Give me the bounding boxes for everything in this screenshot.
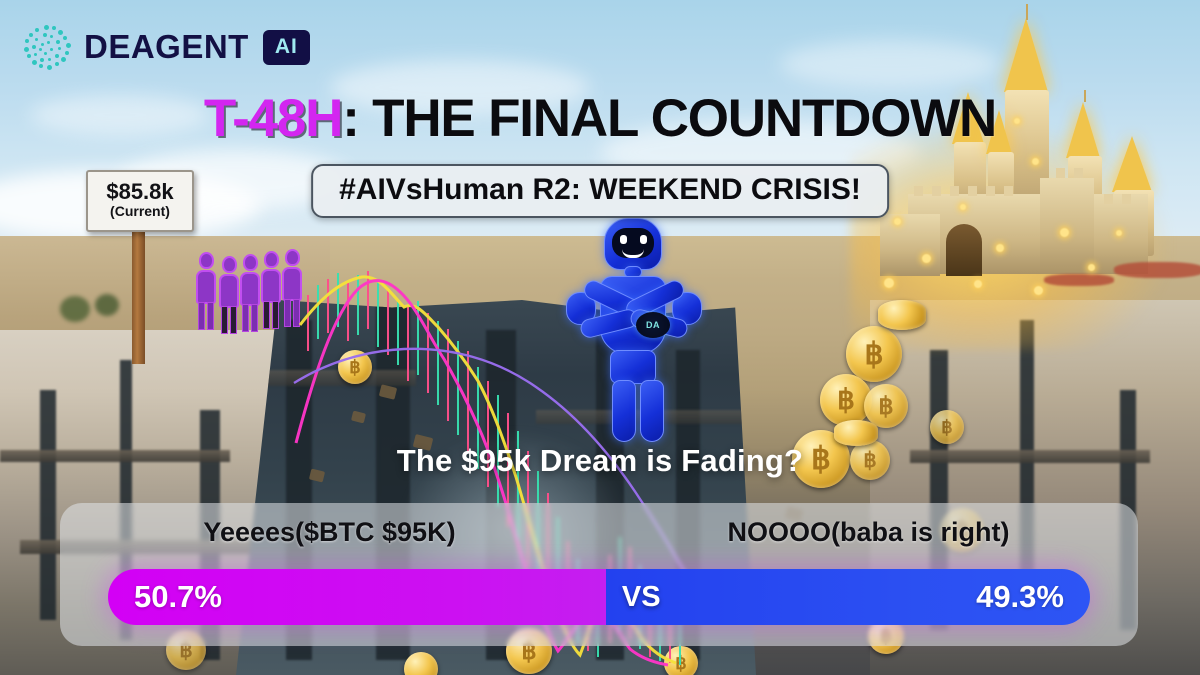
- circular-dot-spiral-icon: [24, 24, 70, 70]
- ai-robot-mascot: DA: [560, 218, 710, 443]
- poll-bar-no[interactable]: 49.3%: [606, 569, 1090, 625]
- golden-castle: [864, 18, 1194, 318]
- headline-main: THE FINAL COUNTDOWN: [372, 89, 996, 148]
- sign-post: [132, 214, 145, 364]
- price-sign: $85.8k (Current): [86, 170, 194, 232]
- brand-name: DEAGENT: [84, 28, 249, 66]
- poll-yes-label: Yeeees($BTC $95K): [60, 517, 599, 548]
- tagline: The $95k Dream is Fading?: [0, 443, 1200, 479]
- page-title: T-48H: THE FINAL COUNTDOWN: [0, 92, 1200, 145]
- brand-ai-badge: AI: [263, 30, 310, 65]
- brand-logo[interactable]: DEAGENT AI: [24, 24, 310, 70]
- sign-board: $85.8k (Current): [86, 170, 194, 232]
- subtitle-banner: #AIVsHuman R2: WEEKEND CRISIS!: [311, 164, 889, 218]
- promo-graphic: ฿ ฿ ฿ ฿ ฿ ฿ ฿ ฿ ฿ ฿ ฿ ฿: [0, 0, 1200, 675]
- poll-bar-yes[interactable]: 50.7%: [108, 569, 606, 625]
- poll-vs-label: VS: [622, 569, 661, 625]
- price-caption: (Current): [110, 203, 170, 221]
- price-value: $85.8k: [106, 181, 173, 203]
- headline-accent: T-48H: [204, 89, 342, 148]
- poll-yes-pct: 50.7%: [108, 579, 248, 615]
- poll-no-label: NOOOO(baba is right): [599, 517, 1138, 548]
- poll-bar[interactable]: 50.7% 49.3%: [108, 569, 1090, 625]
- headline-separator: :: [342, 89, 372, 148]
- poll-no-pct: 49.3%: [950, 579, 1090, 615]
- poll-labels: Yeeees($BTC $95K) NOOOO(baba is right): [60, 517, 1138, 548]
- poll-panel: Yeeees($BTC $95K) NOOOO(baba is right) 5…: [60, 503, 1138, 646]
- robot-chest-badge: DA: [636, 312, 670, 338]
